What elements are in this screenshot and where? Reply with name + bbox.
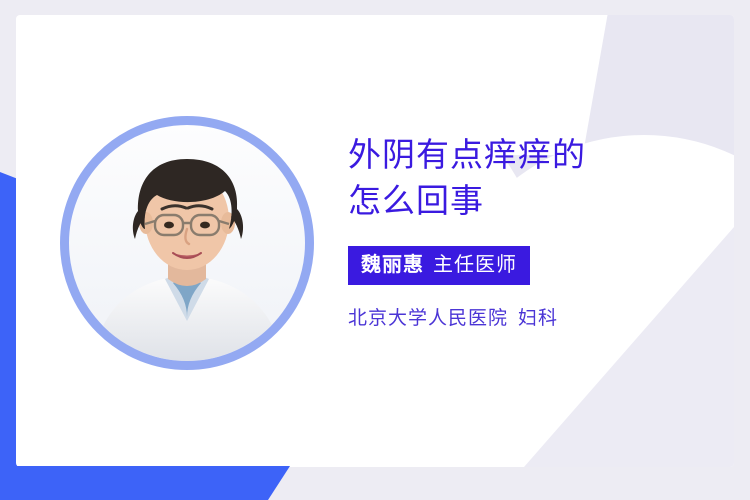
doctor-video-banner: 外阴有点痒痒的 怎么回事 魏丽惠主任医师 北京大学人民医院妇科 <box>0 0 750 500</box>
hospital-name: 北京大学人民医院 <box>348 308 508 329</box>
doctor-title: 主任医师 <box>433 254 517 276</box>
doctor-name: 魏丽惠 <box>361 254 424 276</box>
banner-text-column: 外阴有点痒痒的 怎么回事 魏丽惠主任医师 北京大学人民医院妇科 <box>348 132 688 332</box>
decor-blue-bottom-bar <box>0 466 290 500</box>
doctor-credential-badge: 魏丽惠主任医师 <box>348 246 530 285</box>
department-name: 妇科 <box>518 308 558 329</box>
avatar-ring <box>60 116 314 370</box>
avatar <box>60 116 314 370</box>
doctor-affiliation: 北京大学人民医院妇科 <box>348 306 688 332</box>
page-title: 外阴有点痒痒的 怎么回事 <box>348 132 688 224</box>
